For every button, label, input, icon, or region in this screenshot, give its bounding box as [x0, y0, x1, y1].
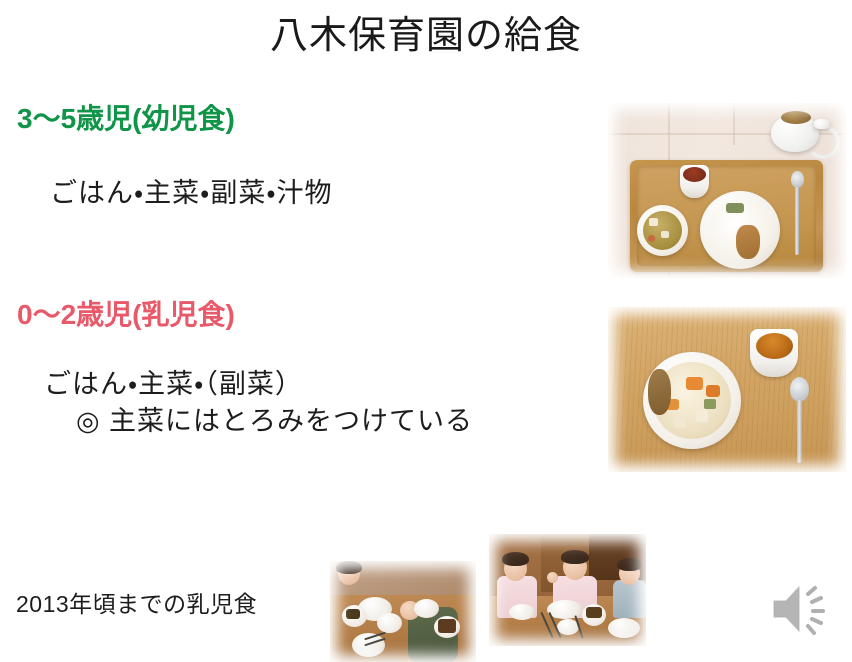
- toddler-menu-line: ごはん・主菜・副菜・汁物: [50, 177, 333, 211]
- speaker-icon[interactable]: [768, 576, 834, 642]
- photo-children-eating-left: [330, 561, 476, 662]
- infant-menu-line: ごはん・主菜・（副菜）: [44, 368, 303, 402]
- photo-infant-meal-board: [608, 307, 846, 472]
- photo-scene: [330, 561, 476, 662]
- photo-scene: [608, 103, 846, 278]
- photo-toddler-meal-tray: [608, 103, 846, 278]
- section-heading-toddler: 3〜5歳児(幼児食): [17, 104, 235, 135]
- infant-note-line: ◎ 主菜にはとろみをつけている: [76, 405, 473, 439]
- page-title: 八木保育園の給食: [0, 14, 852, 60]
- section-heading-infant: 0〜2歳児(乳児食): [17, 300, 235, 331]
- photo-scene: [608, 307, 846, 472]
- photo-scene: [489, 534, 646, 646]
- bottom-caption: 2013年頃までの乳児食: [16, 585, 257, 619]
- photo-children-eating-right: [489, 534, 646, 646]
- presentation-slide: 八木保育園の給食 3〜5歳児(幼児食) ごはん・主菜・副菜・汁物 0〜2歳児(乳…: [0, 0, 852, 662]
